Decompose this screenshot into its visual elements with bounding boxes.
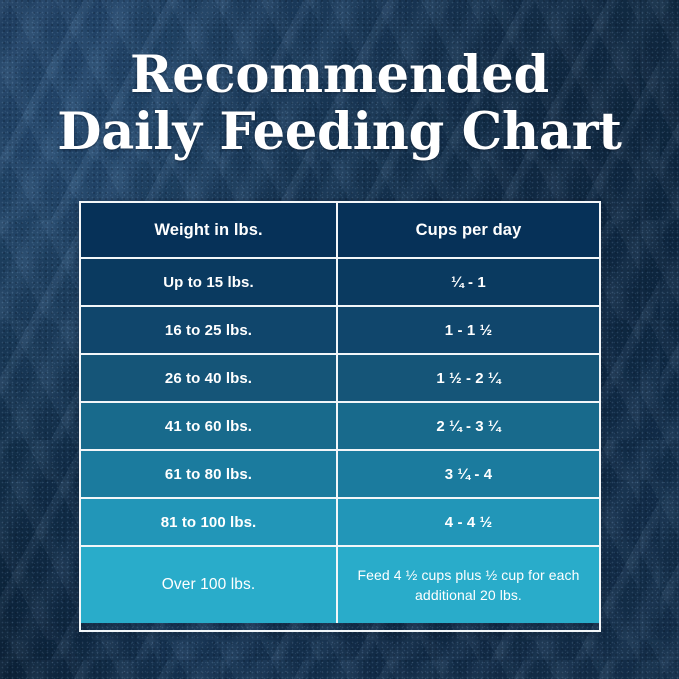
table-row: 41 to 60 lbs.2 ¼ - 3 ¼ bbox=[81, 403, 599, 451]
title-line-1: Recommended bbox=[0, 47, 679, 104]
cell-weight: Over 100 lbs. bbox=[81, 547, 338, 623]
table-body: Up to 15 lbs.¼ - 116 to 25 lbs.1 - 1 ½26… bbox=[81, 259, 599, 623]
cell-cups: 3 ¼ - 4 bbox=[338, 451, 599, 497]
cell-weight: 26 to 40 lbs. bbox=[81, 355, 338, 401]
cell-weight: 41 to 60 lbs. bbox=[81, 403, 338, 449]
feeding-chart-table: Weight in lbs. Cups per day Up to 15 lbs… bbox=[79, 201, 601, 632]
cell-cups: 4 - 4 ½ bbox=[338, 499, 599, 545]
table-row: 61 to 80 lbs.3 ¼ - 4 bbox=[81, 451, 599, 499]
cell-cups: 1 ½ - 2 ¼ bbox=[338, 355, 599, 401]
column-header-weight: Weight in lbs. bbox=[81, 203, 338, 257]
cell-weight: 16 to 25 lbs. bbox=[81, 307, 338, 353]
table-row: 26 to 40 lbs.1 ½ - 2 ¼ bbox=[81, 355, 599, 403]
page-title: Recommended Daily Feeding Chart bbox=[0, 47, 679, 161]
cell-weight: Up to 15 lbs. bbox=[81, 259, 338, 305]
title-line-2: Daily Feeding Chart bbox=[0, 104, 679, 161]
column-header-cups: Cups per day bbox=[338, 203, 599, 257]
table-row: 16 to 25 lbs.1 - 1 ½ bbox=[81, 307, 599, 355]
table-row: Up to 15 lbs.¼ - 1 bbox=[81, 259, 599, 307]
cell-cups: ¼ - 1 bbox=[338, 259, 599, 305]
cell-weight: 61 to 80 lbs. bbox=[81, 451, 338, 497]
cell-cups: Feed 4 ½ cups plus ½ cup for each additi… bbox=[338, 547, 599, 623]
table-row: Over 100 lbs.Feed 4 ½ cups plus ½ cup fo… bbox=[81, 547, 599, 623]
cell-weight: 81 to 100 lbs. bbox=[81, 499, 338, 545]
table-header-row: Weight in lbs. Cups per day bbox=[81, 203, 599, 259]
cell-cups: 2 ¼ - 3 ¼ bbox=[338, 403, 599, 449]
cell-cups: 1 - 1 ½ bbox=[338, 307, 599, 353]
table-row: 81 to 100 lbs.4 - 4 ½ bbox=[81, 499, 599, 547]
